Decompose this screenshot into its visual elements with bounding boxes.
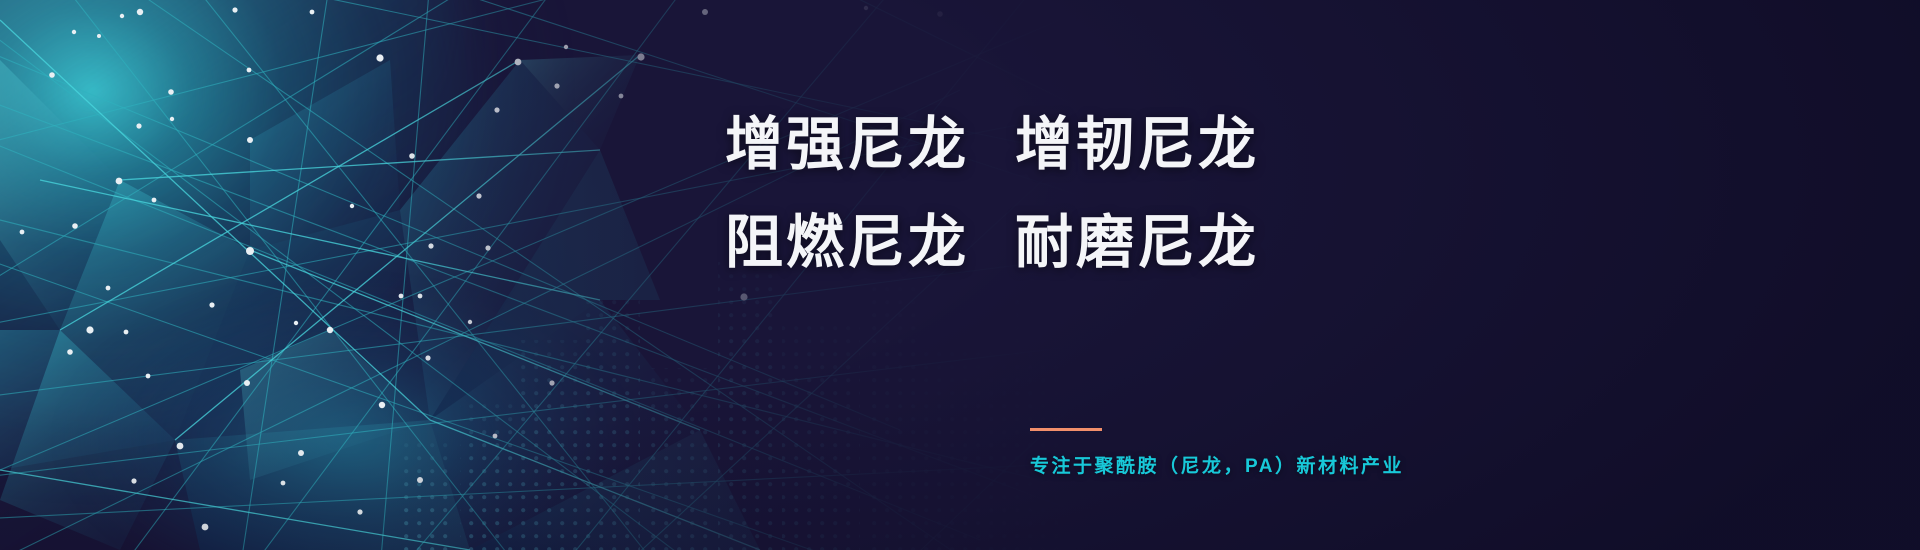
vignette-overlay <box>0 0 1920 550</box>
hero-banner: 增强尼龙增韧尼龙 阻燃尼龙耐磨尼龙 专注于聚酰胺（尼龙，PA）新材料产业 <box>0 0 1920 550</box>
